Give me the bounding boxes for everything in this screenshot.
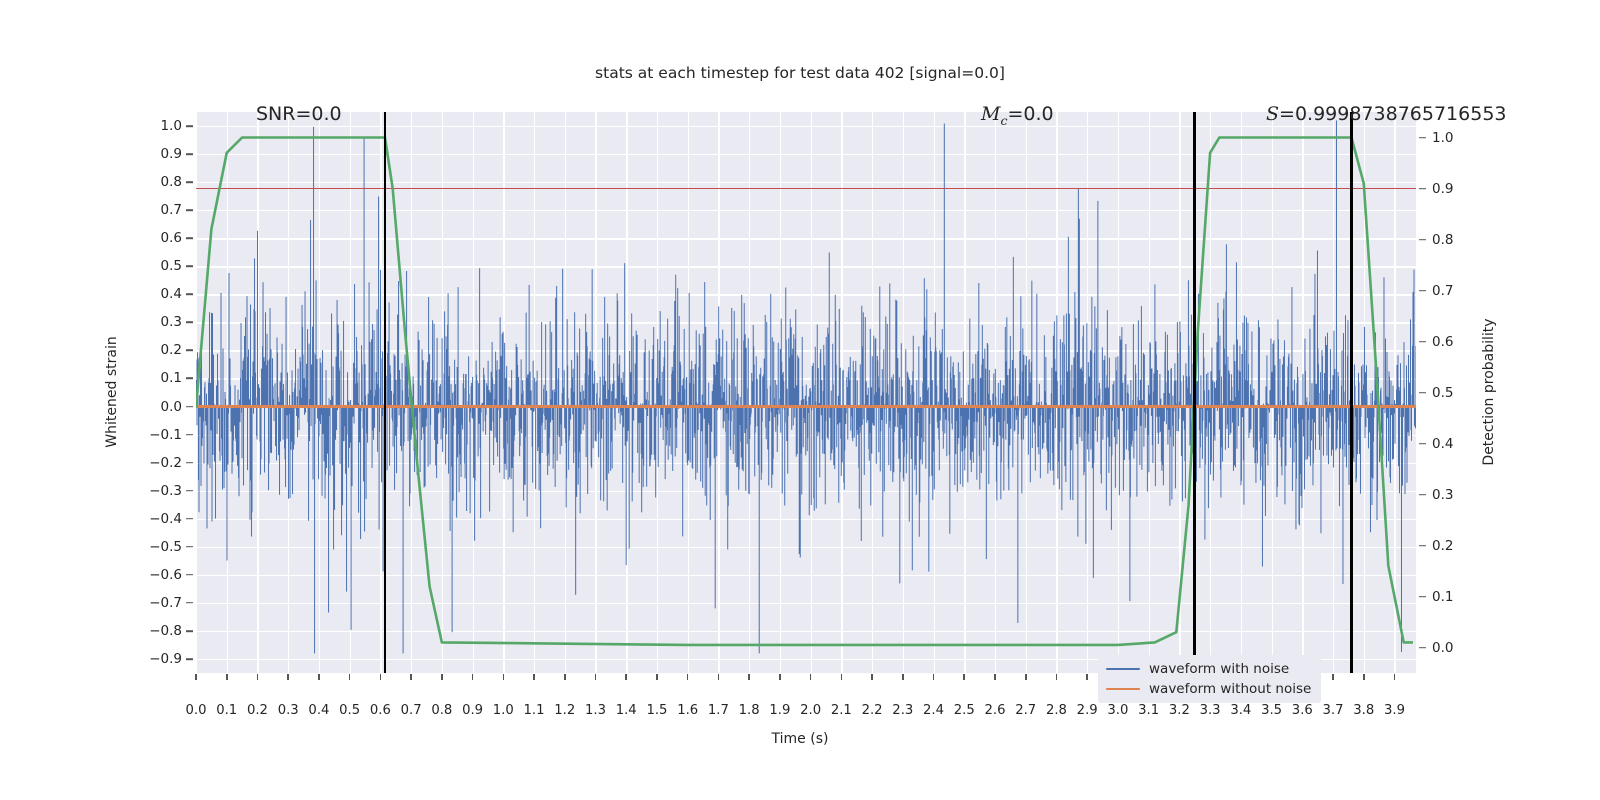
y-axis-left-tick-mark (186, 153, 193, 155)
x-axis-tick-label: 1.1 (524, 703, 545, 718)
x-axis-tick-label: 2.8 (1046, 703, 1067, 718)
y-axis-right-tick-label: 0.9 (1432, 181, 1492, 197)
x-axis-tick-label: 2.4 (923, 703, 944, 718)
y-axis-left-tick-mark (186, 434, 193, 436)
y-axis-right-tick-mark (1419, 596, 1426, 598)
x-axis-tick-mark (1394, 674, 1396, 680)
x-axis-tick-mark (1363, 674, 1365, 680)
x-axis-tick-label: 0.6 (370, 703, 391, 718)
x-axis-tick-mark (380, 674, 382, 680)
y-axis-left-tick-label: 0.3 (122, 314, 182, 330)
legend-color-swatch (1106, 668, 1140, 671)
x-axis-tick-label: 0.9 (462, 703, 483, 718)
y-axis-right-tick-mark (1419, 239, 1426, 241)
y-axis-right-tick-mark (1419, 188, 1426, 190)
legend: waveform with noisewaveform without nois… (1098, 655, 1321, 703)
y-axis-left-tick-label: −0.7 (122, 595, 182, 611)
detection-probability-layer (196, 112, 1416, 673)
y-axis-left-tick-label: −0.5 (122, 539, 182, 555)
y-axis-left-tick-label: −0.6 (122, 567, 182, 583)
y-axis-left-tick-label: −0.3 (122, 483, 182, 499)
x-axis-tick-mark (871, 674, 873, 680)
y-axis-right-tick-label: 0.8 (1432, 232, 1492, 248)
x-axis-tick-mark (503, 674, 505, 680)
x-axis-tick-mark (994, 674, 996, 680)
y-axis-left-tick-mark (186, 350, 193, 352)
chirp-mass-annotation: Mc=0.0 (981, 103, 1054, 128)
x-axis-tick-label: 2.7 (1015, 703, 1036, 718)
x-axis-tick-label: 2.3 (892, 703, 913, 718)
x-axis-tick-label: 3.8 (1353, 703, 1374, 718)
x-axis-tick-label: 2.2 (862, 703, 883, 718)
x-axis-tick-mark (748, 674, 750, 680)
y-axis-left-tick-label: −0.1 (122, 427, 182, 443)
x-axis-tick-mark (195, 674, 197, 680)
y-axis-left-tick-label: 0.1 (122, 370, 182, 386)
y-axis-left-tick-mark (186, 630, 193, 632)
y-axis-right-tick-mark (1419, 494, 1426, 496)
y-axis-left-tick-mark (186, 209, 193, 211)
x-axis-tick-label: 3.0 (1107, 703, 1128, 718)
y-axis-right-tick-label: 0.2 (1432, 538, 1492, 554)
x-axis-tick-mark (779, 674, 781, 680)
x-axis-tick-mark (963, 674, 965, 680)
y-axis-right-tick-label: 0.0 (1432, 640, 1492, 656)
y-axis-left-tick-mark (186, 237, 193, 239)
x-axis-tick-label: 3.1 (1138, 703, 1159, 718)
y-axis-left-tick-mark (186, 574, 193, 576)
x-axis-tick-label: 3.3 (1200, 703, 1221, 718)
y-axis-left-tick-label: 0.5 (122, 258, 182, 274)
y-axis-left-label: Whitened strain (104, 336, 120, 447)
y-axis-left-tick-label: −0.9 (122, 651, 182, 667)
legend-label: waveform without noise (1149, 681, 1311, 697)
y-axis-left-tick-label: 0.6 (122, 230, 182, 246)
y-axis-left-tick-label: 0.7 (122, 202, 182, 218)
x-axis-tick-label: 0.3 (278, 703, 299, 718)
x-axis-label: Time (s) (0, 731, 1600, 747)
y-axis-left-tick-label: 0.4 (122, 286, 182, 302)
x-axis-tick-label: 3.9 (1384, 703, 1405, 718)
plot-area (196, 112, 1416, 673)
legend-item[interactable]: waveform without noise (1106, 681, 1311, 697)
x-axis-tick-mark (1086, 674, 1088, 680)
x-axis-tick-mark (410, 674, 412, 680)
x-axis-tick-label: 0.5 (339, 703, 360, 718)
x-axis-tick-label: 3.4 (1230, 703, 1251, 718)
x-axis-tick-label: 1.0 (493, 703, 514, 718)
x-axis-tick-mark (287, 674, 289, 680)
snr-annotation: SNR=0.0 (256, 103, 342, 125)
x-axis-tick-label: 3.5 (1261, 703, 1282, 718)
x-axis-tick-label: 0.0 (186, 703, 207, 718)
x-axis-tick-mark (810, 674, 812, 680)
x-axis-tick-mark (687, 674, 689, 680)
y-axis-left-tick-label: −0.8 (122, 623, 182, 639)
y-axis-right-tick-mark (1419, 137, 1426, 139)
y-axis-right-tick-mark (1419, 647, 1426, 649)
x-axis-tick-mark (595, 674, 597, 680)
x-axis-tick-label: 1.2 (554, 703, 575, 718)
chirp-mass-symbol: M (981, 103, 1000, 125)
x-axis-tick-mark (656, 674, 658, 680)
legend-color-swatch (1106, 688, 1140, 691)
x-axis-tick-label: 0.7 (401, 703, 422, 718)
x-axis-tick-label: 2.6 (984, 703, 1005, 718)
x-axis-tick-label: 1.4 (616, 703, 637, 718)
threshold-crossing-marker (1193, 112, 1196, 673)
y-axis-left-tick-mark (186, 518, 193, 520)
chirp-mass-value: 0.0 (1023, 103, 1053, 125)
y-axis-left-tick-mark (186, 181, 193, 183)
chirp-mass-equals: = (1007, 103, 1023, 125)
y-axis-left-tick-label: −0.4 (122, 511, 182, 527)
x-axis-tick-label: 3.6 (1292, 703, 1313, 718)
y-axis-right-tick-label: 0.7 (1432, 283, 1492, 299)
x-axis-tick-label: 2.1 (831, 703, 852, 718)
threshold-crossing-marker (384, 112, 387, 673)
x-axis-tick-label: 3.2 (1169, 703, 1190, 718)
x-axis-tick-mark (564, 674, 566, 680)
x-axis-tick-mark (841, 674, 843, 680)
y-axis-left-tick-mark (186, 125, 193, 127)
x-axis-tick-mark (1025, 674, 1027, 680)
y-axis-right-tick-label: 0.3 (1432, 487, 1492, 503)
x-axis-tick-label: 3.7 (1323, 703, 1344, 718)
x-axis-tick-label: 1.5 (646, 703, 667, 718)
x-axis-tick-label: 2.0 (800, 703, 821, 718)
legend-item[interactable]: waveform with noise (1106, 661, 1311, 677)
x-axis-tick-label: 2.5 (954, 703, 975, 718)
y-axis-right-tick-mark (1419, 443, 1426, 445)
x-axis-tick-mark (933, 674, 935, 680)
x-axis-tick-label: 1.7 (708, 703, 729, 718)
score-value: 0.9998738765716553 (1295, 103, 1507, 125)
x-axis-tick-label: 1.9 (769, 703, 790, 718)
x-axis-tick-mark (1056, 674, 1058, 680)
y-axis-left-tick-mark (186, 294, 193, 296)
x-axis-tick-mark (1332, 674, 1334, 680)
page-title: stats at each timestep for test data 402… (0, 64, 1600, 82)
x-axis-tick-mark (257, 674, 259, 680)
x-axis-tick-label: 0.1 (216, 703, 237, 718)
y-axis-left-tick-mark (186, 265, 193, 267)
x-axis-tick-label: 1.3 (585, 703, 606, 718)
y-axis-left-tick-label: 0.2 (122, 342, 182, 358)
x-axis-tick-mark (472, 674, 474, 680)
x-axis-tick-label: 0.2 (247, 703, 268, 718)
matplotlib-figure: stats at each timestep for test data 402… (0, 0, 1600, 800)
y-axis-left-tick-label: 0.0 (122, 399, 182, 415)
snr-annotation-label: SNR= (256, 103, 311, 125)
score-annotation: S=0.9998738765716553 (1266, 103, 1507, 125)
x-axis-tick-mark (226, 674, 228, 680)
x-axis-tick-label: 1.8 (739, 703, 760, 718)
y-axis-left-tick-mark (186, 406, 193, 408)
x-axis-tick-mark (718, 674, 720, 680)
threshold-crossing-marker (1350, 112, 1353, 673)
y-axis-left-tick-mark (186, 462, 193, 464)
y-axis-left-tick-mark (186, 490, 193, 492)
detection-probability-path (196, 138, 1413, 645)
y-axis-left-tick-mark (186, 322, 193, 324)
score-symbol: S (1266, 103, 1279, 125)
y-axis-right-tick-label: 1.0 (1432, 130, 1492, 146)
y-axis-left-tick-mark (186, 378, 193, 380)
snr-annotation-value: 0.0 (311, 103, 341, 125)
y-axis-left-tick-label: 0.9 (122, 146, 182, 162)
legend-label: waveform with noise (1149, 661, 1289, 677)
x-axis-tick-label: 1.6 (677, 703, 698, 718)
y-axis-left-tick-mark (186, 658, 193, 660)
x-axis-tick-mark (318, 674, 320, 680)
y-axis-right-tick-mark (1419, 545, 1426, 547)
x-axis-tick-label: 2.9 (1077, 703, 1098, 718)
x-axis-tick-mark (349, 674, 351, 680)
x-axis-tick-label: 0.4 (308, 703, 329, 718)
score-equals: = (1279, 103, 1295, 125)
y-axis-left-tick-label: 1.0 (122, 118, 182, 134)
y-axis-right-tick-mark (1419, 392, 1426, 394)
x-axis-tick-label: 0.8 (431, 703, 452, 718)
y-axis-left-tick-label: 0.8 (122, 174, 182, 190)
x-axis-tick-mark (533, 674, 535, 680)
y-axis-left-tick-label: −0.2 (122, 455, 182, 471)
y-axis-right-tick-label: 0.1 (1432, 589, 1492, 605)
y-axis-right-label: Detection probability (1481, 318, 1497, 465)
x-axis-tick-mark (902, 674, 904, 680)
y-axis-right-tick-mark (1419, 290, 1426, 292)
y-axis-left-tick-mark (186, 602, 193, 604)
y-axis-right-tick-mark (1419, 341, 1426, 343)
y-axis-left-tick-mark (186, 546, 193, 548)
x-axis-tick-mark (441, 674, 443, 680)
x-axis-tick-mark (625, 674, 627, 680)
